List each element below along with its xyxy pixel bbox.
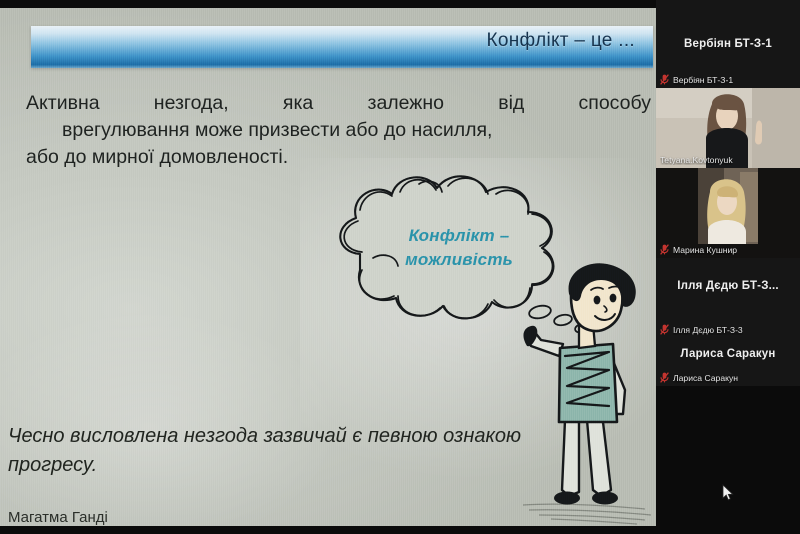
participant-name-bar: Марина Кушнир bbox=[656, 243, 741, 256]
participant-name-bar: Ілля Дєдю БТ-З-3 bbox=[656, 323, 747, 336]
participant-display-name: Лариса Саракун bbox=[656, 348, 800, 360]
participant-name-label: Вербіян БТ-З-1 bbox=[673, 75, 733, 85]
participant-name-label: Ілля Дєдю БТ-З-3 bbox=[673, 325, 743, 335]
participant-display-name: Вербіян БТ-З-1 bbox=[656, 38, 800, 50]
slide-body-line-1: Активна незгода, яка залежно від способу bbox=[26, 90, 651, 117]
participant-tile-verbiyan[interactable]: Вербіян БТ-З-1 Вербіян БТ-З-1 bbox=[656, 0, 800, 88]
screen-glare-secondary bbox=[0, 308, 340, 527]
bubble-line-1: Конфлікт – bbox=[409, 226, 510, 245]
participant-panel: Вербіян БТ-З-1 Вербіян БТ-З-1 bbox=[656, 0, 800, 534]
mic-muted-icon bbox=[660, 324, 669, 335]
bubble-line-2: можливість bbox=[405, 250, 513, 269]
participant-display-name: Ілля Дєдю БТ-З... bbox=[656, 280, 800, 292]
slide-title: Конфлікт – це ... bbox=[487, 30, 635, 52]
mic-muted-icon bbox=[660, 74, 669, 85]
slide-quote-author: Магатма Ганді bbox=[8, 509, 108, 526]
participant-tile-tetyana[interactable]: Tetyana.Kovtonyuk bbox=[656, 88, 800, 168]
mouse-cursor bbox=[722, 484, 734, 501]
slide-quote: Чесно висловлена незгода зазвичай є певн… bbox=[8, 422, 578, 480]
quote-line-1: Чесно висловлена незгода зазвичай є певн… bbox=[8, 425, 438, 447]
screen-photo: Конфлікт – це ... Активна незгода, яка з… bbox=[0, 0, 800, 534]
participant-name-label: Tetyana.Kovtonyuk bbox=[660, 155, 733, 165]
slide-body-text: Активна незгода, яка залежно від способу… bbox=[26, 90, 651, 171]
participant-name-bar: Лариса Саракун bbox=[656, 371, 742, 384]
participant-tile-illya[interactable]: Ілля Дєдю БТ-З... Ілля Дєдю БТ-З-3 bbox=[656, 258, 800, 338]
cartoon-man-illustration bbox=[505, 260, 656, 527]
participant-panel-empty-area bbox=[656, 386, 800, 534]
participant-tile-maryna[interactable]: Марина Кушнир bbox=[656, 168, 800, 258]
participant-name-bar: Вербіян БТ-З-1 bbox=[656, 73, 737, 86]
mic-muted-icon bbox=[660, 372, 669, 383]
shared-slide: Конфлікт – це ... Активна незгода, яка з… bbox=[0, 8, 656, 527]
mic-muted-icon bbox=[660, 244, 669, 255]
participant-tile-larysa[interactable]: Лариса Саракун Лариса Саракун bbox=[656, 338, 800, 386]
participant-name-label: Лариса Саракун bbox=[673, 373, 738, 383]
participant-name-bar: Tetyana.Kovtonyuk bbox=[656, 154, 737, 166]
screen-top-bezel bbox=[0, 0, 656, 8]
screen-bottom-bezel bbox=[0, 526, 656, 534]
slide-body-line-2: врегулювання може призвести або до насил… bbox=[26, 117, 651, 144]
participant-name-label: Марина Кушнир bbox=[673, 245, 737, 255]
slide-title-bar: Конфлікт – це ... bbox=[31, 26, 653, 68]
